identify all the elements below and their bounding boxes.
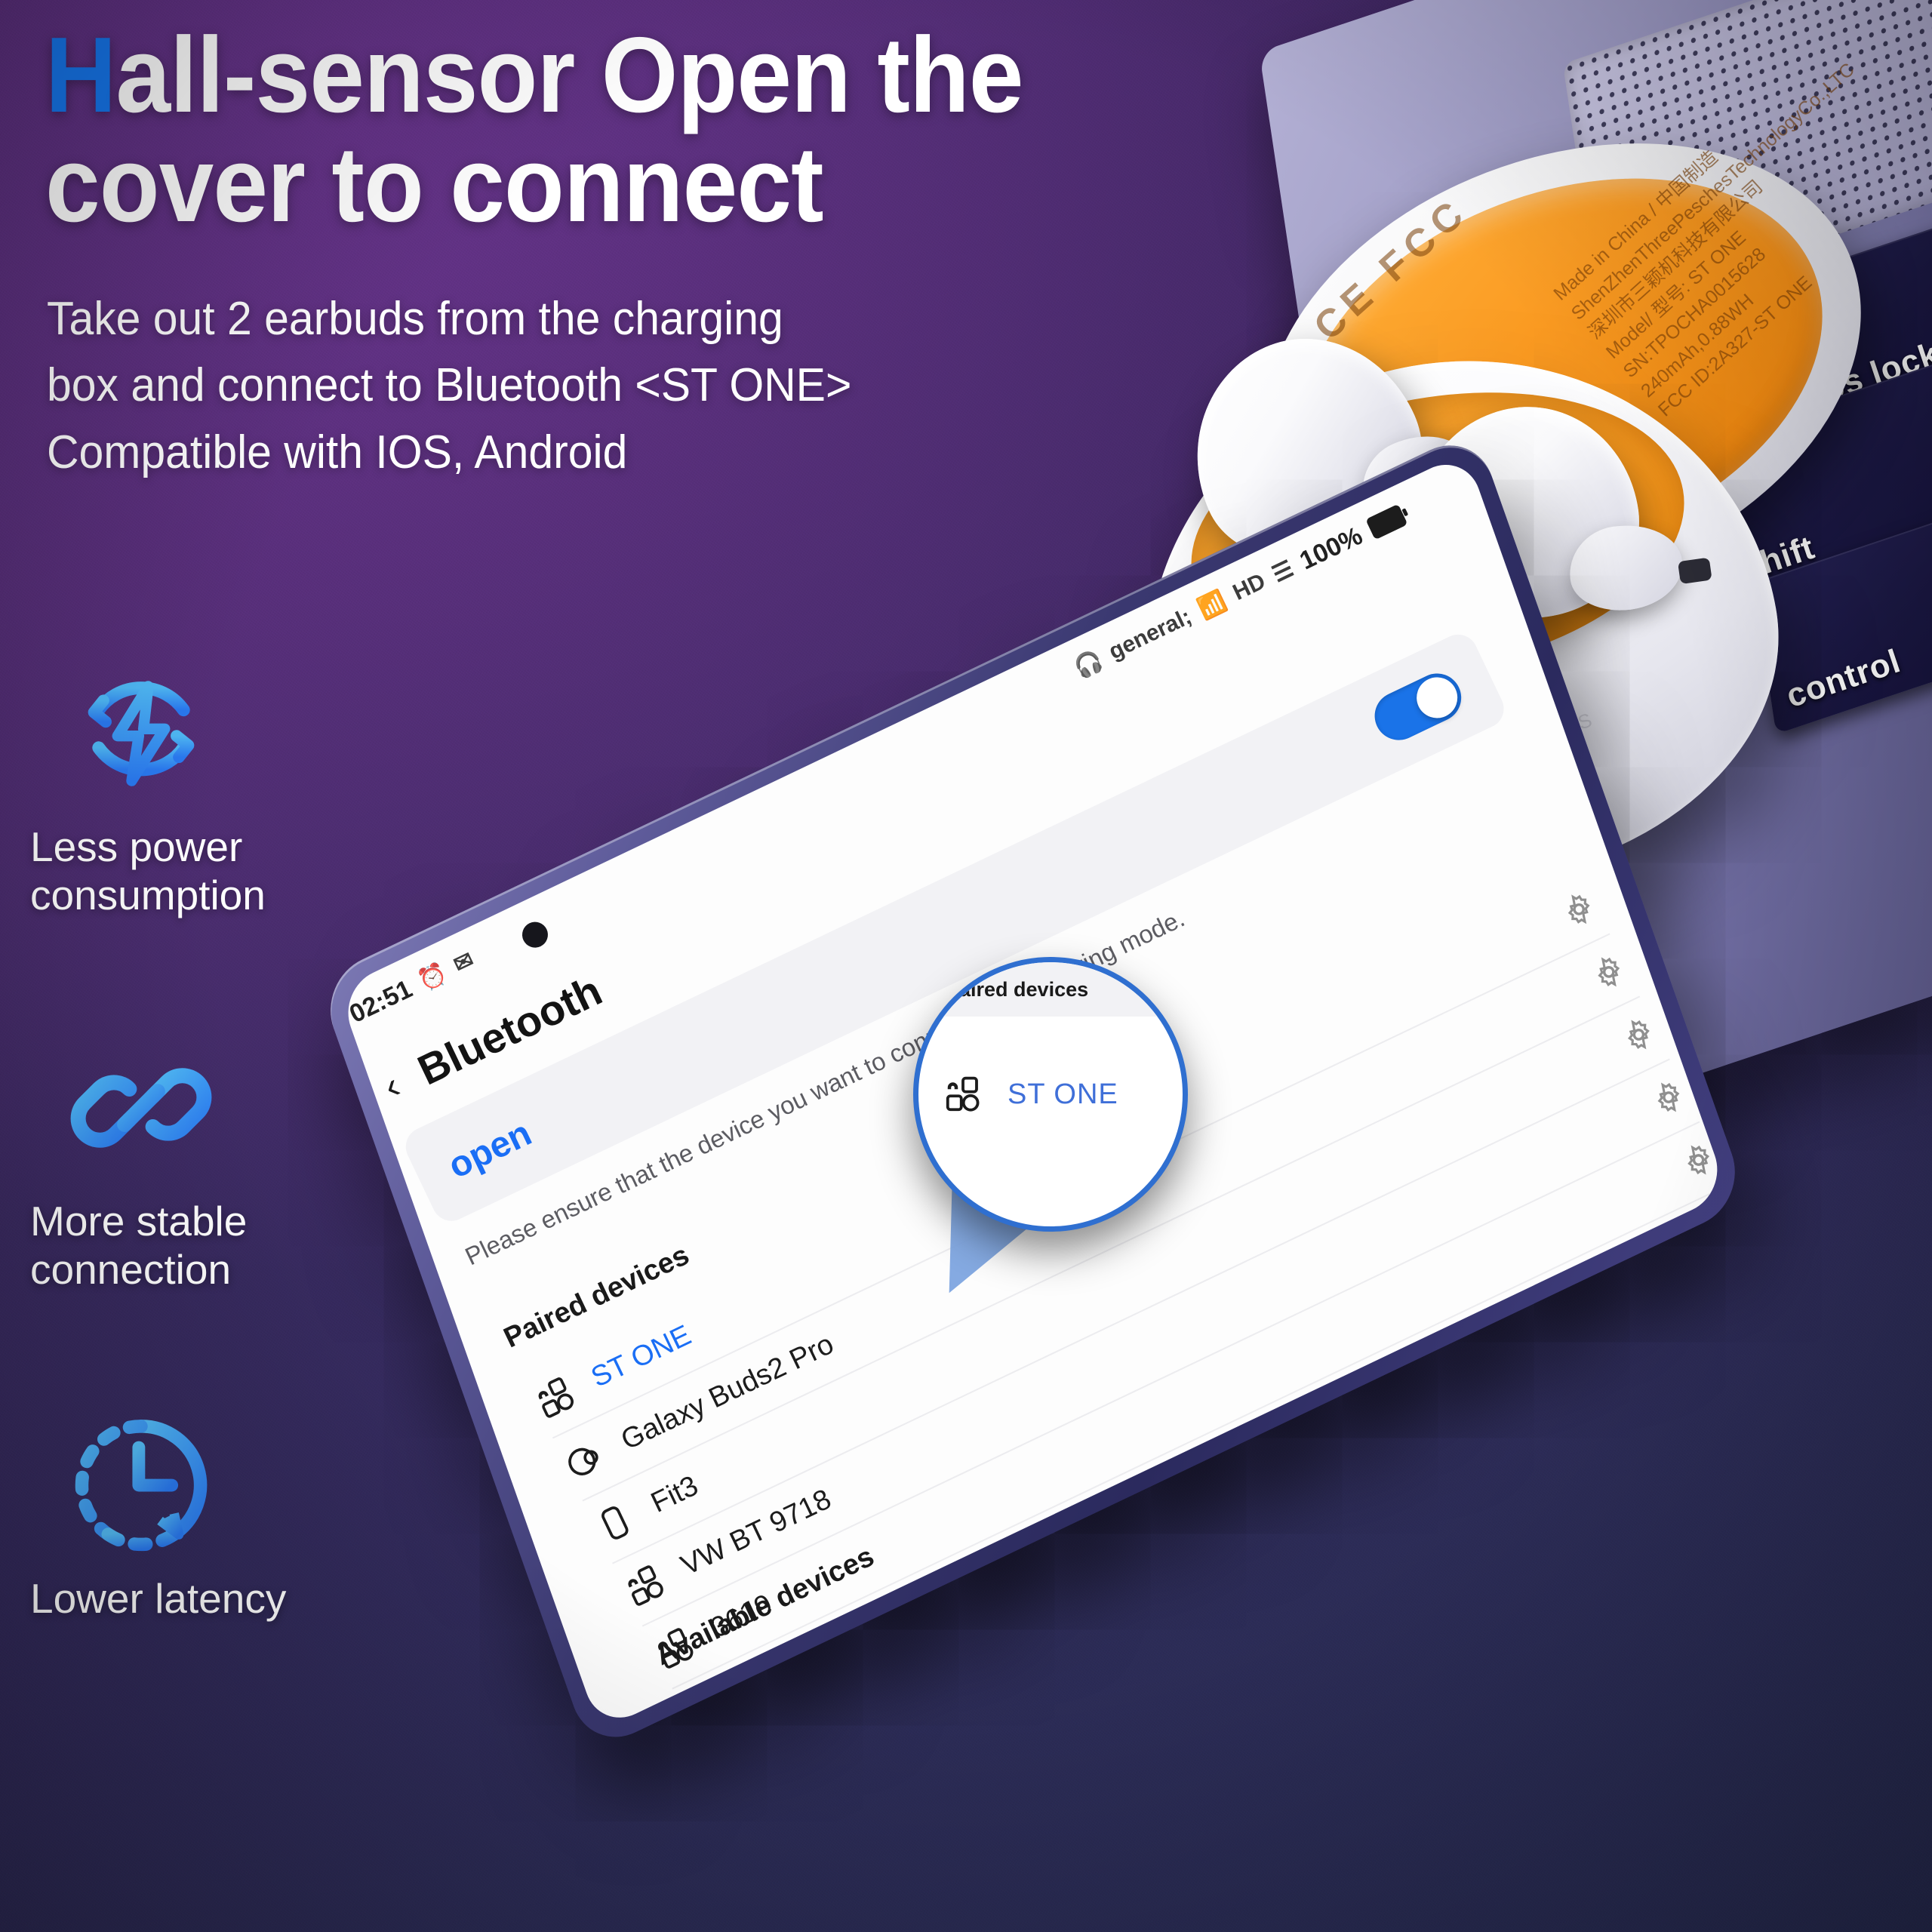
headline-line2: cover to connect [45, 125, 823, 245]
clock-arrow-icon [62, 1410, 220, 1561]
message-icon: ✉ [449, 946, 478, 978]
band-icon [589, 1497, 641, 1549]
feature-label-line: Lower latency [30, 1575, 340, 1623]
magnifier-device-row: ST ONE [943, 1074, 1118, 1115]
gear-icon[interactable] [1586, 949, 1632, 995]
feature-label-line: Less power [30, 823, 340, 872]
page-subcopy: Take out 2 earbuds from the charging box… [47, 288, 1022, 488]
earbuds-icon [619, 1559, 671, 1611]
signal-icon: ☰ [1268, 555, 1297, 588]
toggle-knob [1410, 670, 1464, 724]
hd-icon: HD [1229, 569, 1270, 606]
headline-first-letter: H [45, 15, 115, 135]
feature-label-line: consumption [30, 872, 340, 920]
phone-icon [678, 1684, 731, 1730]
feature-label: More stable connection [30, 1198, 340, 1294]
feature-less-power: Less power consumption [23, 658, 340, 920]
subcopy-line-3: Compatible with IOS, Android [47, 422, 1022, 484]
power-loop-icon [62, 658, 220, 809]
status-time: 02:51 [345, 974, 417, 1029]
feature-label: Less power consumption [30, 823, 340, 920]
magnifier-callout: Paired devices ST ONE [913, 957, 1188, 1232]
chain-link-icon [62, 1032, 220, 1183]
feature-lower-latency: Lower latency [23, 1410, 340, 1623]
feature-stable-connection: More stable connection [23, 1032, 340, 1294]
feature-label-line: connection [30, 1246, 340, 1294]
headphone-icon: 🎧 [1070, 646, 1107, 682]
bluetooth-toggle-switch[interactable] [1367, 666, 1469, 748]
magnifier-device-name: ST ONE [1008, 1078, 1118, 1111]
gear-icon[interactable] [1556, 886, 1602, 932]
subcopy-line-1: Take out 2 earbuds from the charging [47, 288, 1022, 350]
feature-label-line: More stable [30, 1198, 340, 1246]
feature-label: Lower latency [30, 1575, 340, 1623]
alarm-icon: ⏰ [414, 959, 451, 995]
earbuds-icon [943, 1074, 983, 1115]
wifi-icon: 📶 [1194, 587, 1231, 623]
headline-line1-rest: all-sensor Open the [115, 15, 1023, 135]
magnifier-header: Paired devices [918, 962, 1183, 1017]
subcopy-line-2: box and connect to Bluetooth <ST ONE> [47, 355, 1022, 417]
buds-icon [559, 1434, 611, 1486]
promo-stage: ⇪ caps lock ⇧ shift ⌃ control CE FCC Mad… [0, 0, 1932, 1932]
battery-percent: 100% [1295, 521, 1367, 576]
back-button[interactable]: ‹ [377, 1063, 407, 1109]
bluetooth-toggle-label: open [441, 1112, 537, 1187]
earbuds-icon [529, 1371, 581, 1423]
bluetooth-icon: general; [1105, 604, 1195, 665]
page-headline: Hall-sensor Open the cover to connect [45, 21, 1364, 240]
gear-icon[interactable] [1616, 1011, 1662, 1057]
gear-icon[interactable] [1675, 1137, 1721, 1183]
battery-icon [1365, 504, 1407, 540]
gear-icon[interactable] [1645, 1074, 1691, 1120]
